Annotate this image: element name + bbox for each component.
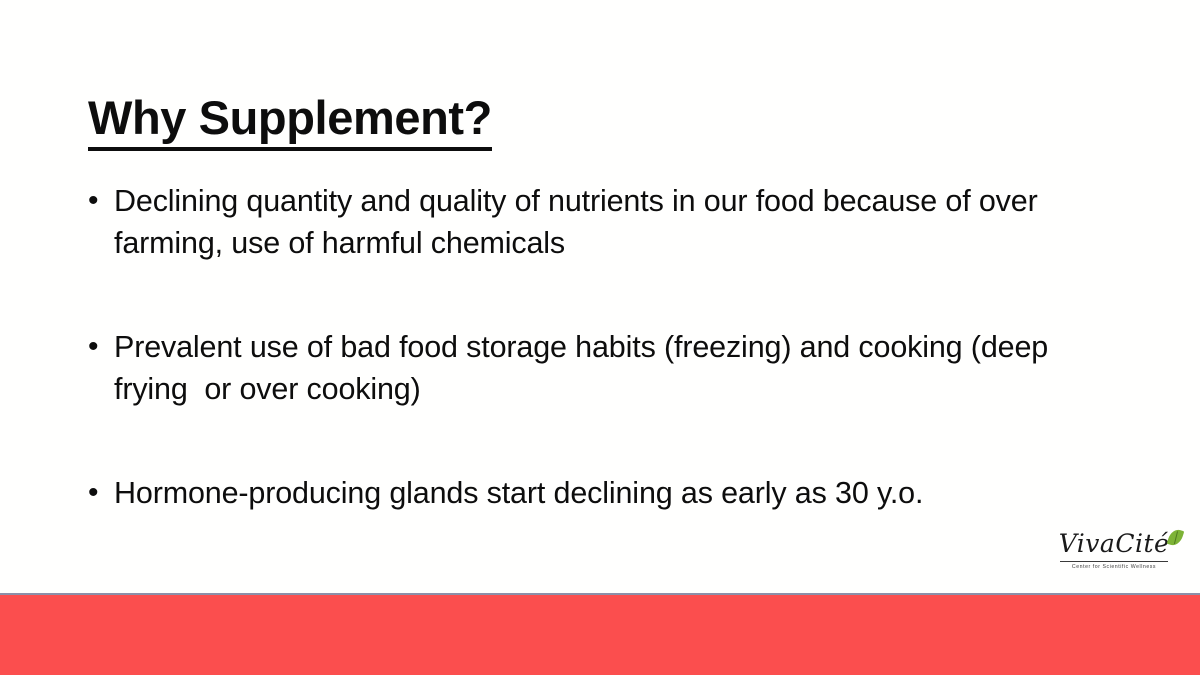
list-item: • Declining quantity and quality of nutr… [88,180,1123,264]
bullet-marker-icon: • [88,472,114,514]
presentation-slide: Why Supplement? • Declining quantity and… [0,0,1200,675]
logo-wordmark: VivaCité [1040,528,1188,560]
title-block: Why Supplement? [88,62,1108,182]
list-item: • Prevalent use of bad food storage habi… [88,326,1123,410]
logo-tagline: Center for Scientific Wellness [1040,564,1188,571]
bullet-marker-icon: • [88,180,114,222]
list-item: • Hormone-producing glands start declini… [88,472,1123,514]
bullet-text: Hormone-producing glands start declining… [114,472,1123,514]
page-title: Why Supplement? [88,93,492,150]
bottom-accent-banner [0,593,1200,675]
bullet-text: Prevalent use of bad food storage habits… [114,326,1123,410]
bullet-text: Declining quantity and quality of nutrie… [114,180,1123,264]
brand-logo: VivaCité Center for Scientific Wellness [1040,528,1188,586]
logo-divider [1060,561,1168,562]
bullet-marker-icon: • [88,326,114,368]
bullet-list: • Declining quantity and quality of nutr… [88,180,1123,514]
